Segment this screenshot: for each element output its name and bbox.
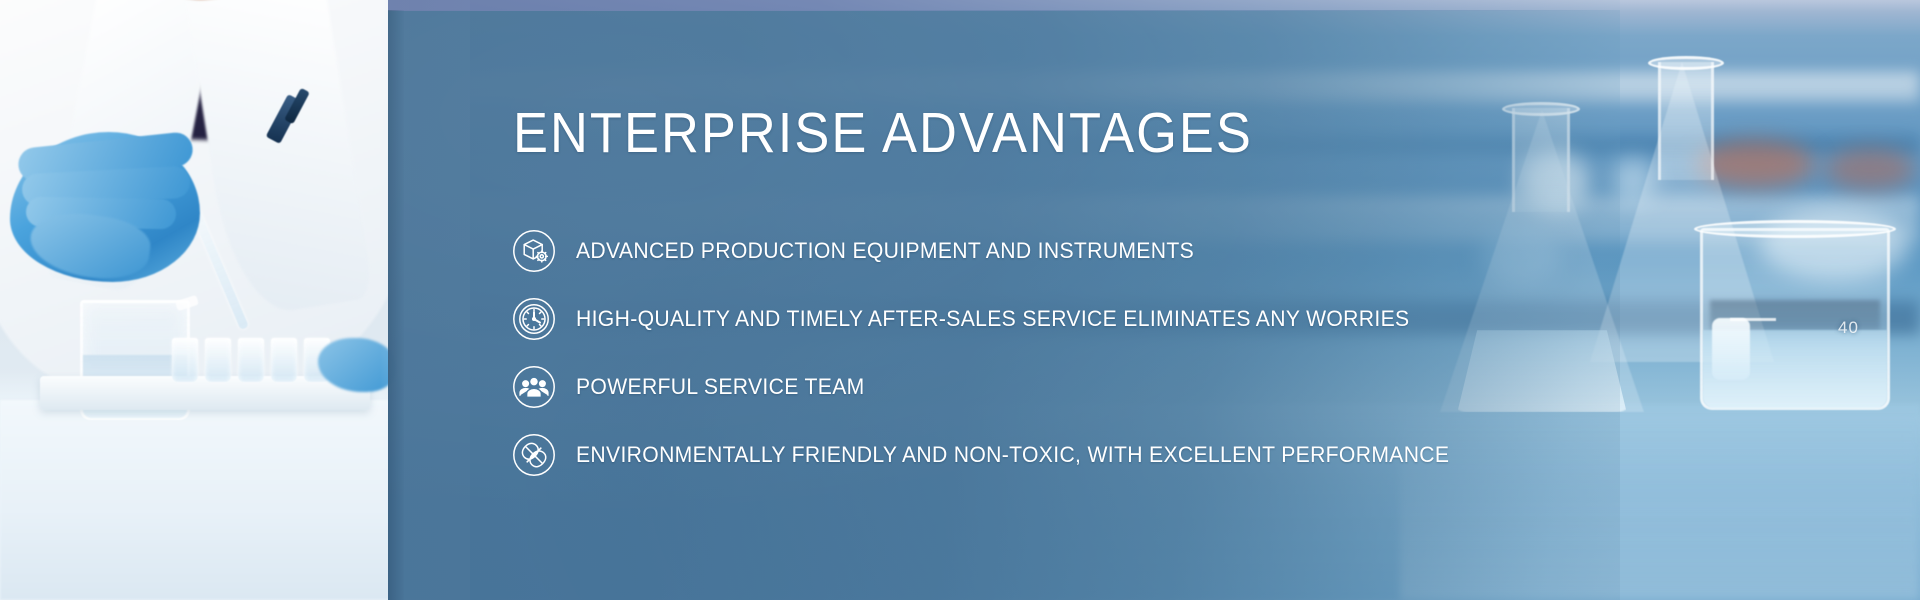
- advantage-item-2[interactable]: HIGH-QUALITY AND TIMELY AFTER-SALES SERV…: [512, 291, 1572, 346]
- sample-vial: [205, 338, 231, 382]
- beaker-graduation-label: 40: [1838, 318, 1859, 338]
- sample-vial: [271, 338, 297, 382]
- team-people-icon: [512, 365, 556, 409]
- enterprise-advantages-banner: 40 ENTERPRISE ADVANTAGES: [0, 0, 1920, 600]
- page-title: ENTERPRISE ADVANTAGES: [513, 105, 1253, 162]
- beaker-graduation-line: [1730, 318, 1776, 321]
- advantage-label: HIGH-QUALITY AND TIMELY AFTER-SALES SERV…: [576, 306, 1409, 332]
- erlenmeyer-flask-back-rim: [1648, 56, 1724, 70]
- beaker-right-rim: [1694, 220, 1896, 238]
- erlenmeyer-flask-back-neck: [1658, 62, 1714, 180]
- advantage-label: ENVIRONMENTALLY FRIENDLY AND NON-TOXIC, …: [576, 442, 1449, 468]
- glass-stopper: [1712, 318, 1750, 380]
- advantage-item-4[interactable]: ENVIRONMENTALLY FRIENDLY AND NON-TOXIC, …: [512, 427, 1572, 482]
- bokeh-light-4: [1825, 148, 1915, 190]
- eco-leaf-icon: [512, 433, 556, 477]
- clock-icon: [512, 297, 556, 341]
- advantages-list: ADVANCED PRODUCTION EQUIPMENT AND INSTRU…: [512, 223, 1572, 495]
- box-gear-icon: [512, 229, 556, 273]
- sample-vial: [172, 338, 198, 382]
- advantage-label: POWERFUL SERVICE TEAM: [576, 374, 865, 400]
- sample-vial: [238, 338, 264, 382]
- advantage-item-1[interactable]: ADVANCED PRODUCTION EQUIPMENT AND INSTRU…: [512, 223, 1572, 278]
- panel-content: ENTERPRISE ADVANTAGES ADVANCED PRODUCTIO: [388, 10, 1620, 600]
- advantage-item-3[interactable]: POWERFUL SERVICE TEAM: [512, 359, 1572, 414]
- advantage-label: ADVANCED PRODUCTION EQUIPMENT AND INSTRU…: [576, 238, 1194, 264]
